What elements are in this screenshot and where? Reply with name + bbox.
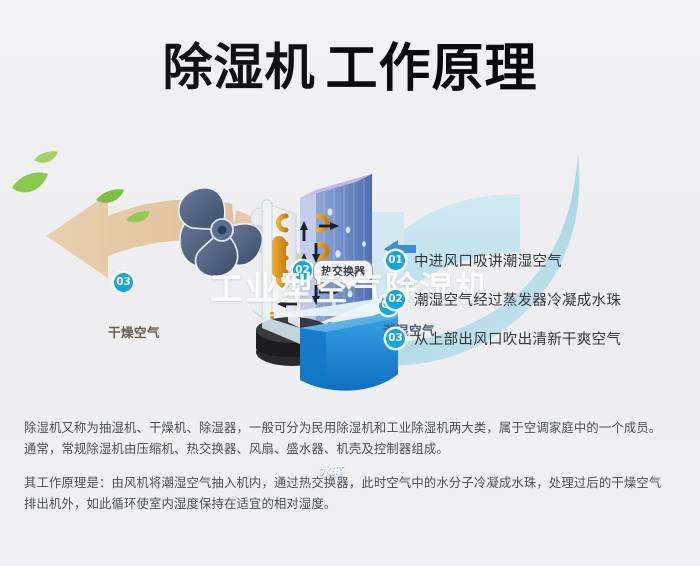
list-item: 02 潮湿空气经过蒸发器冷凝成水珠: [386, 289, 686, 310]
list-item: 01 中进风口吸讲潮湿空气: [386, 250, 686, 271]
title-part-1: 除湿机: [162, 39, 315, 97]
diagram-badge-03: 03: [114, 273, 133, 292]
infographic-page: 除湿机工作原理: [0, 0, 700, 566]
list-item: 03 从上部出风口吹出清新干爽空气: [386, 328, 686, 349]
compressor: [272, 236, 286, 278]
paragraph-2-line-2: 排出机外，如此循环使室内湿度保持在适宜的相对湿度。: [24, 494, 684, 515]
fan-blades: [179, 188, 263, 277]
step-text-01: 中进风口吸讲潮湿空气: [414, 250, 562, 271]
paragraph-1-line-2: 通常，常规除湿机由压缩机、热交换器、风扇、盛水器、机壳及控制器组成。: [24, 439, 684, 460]
step-text-03: 从上部出风口吹出清新干爽空气: [414, 328, 621, 349]
dry-air-label: 干燥空气: [108, 322, 160, 341]
step-badge-02: 02: [386, 290, 405, 309]
step-badge-03: 03: [386, 329, 405, 348]
steps-list: 01 中进风口吸讲潮湿空气 02 潮湿空气经过蒸发器冷凝成水珠 03 从上部出风…: [386, 250, 686, 367]
step-badge-01: 01: [386, 251, 405, 270]
paragraph-2-line-1: 其工作原理是：由风机将潮湿空气抽入机内，通过热交换器，此时空气中的水分子冷凝成水…: [24, 473, 684, 494]
paragraph-1-line-1: 除湿机又称为抽湿机、干燥机、除湿器，一般可分为民用除湿机和工业除湿机两大类，属于…: [24, 418, 684, 439]
step-text-02: 潮湿空气经过蒸发器冷凝成水珠: [414, 289, 621, 310]
heat-exchanger-callout: 热交换器: [313, 260, 373, 283]
body-copy: 除湿机又称为抽湿机、干燥机、除湿器，一般可分为民用除湿机和工业除湿机两大类，属于…: [24, 418, 684, 515]
title-part-2: 工作原理: [325, 39, 537, 99]
paragraph-spacer: [24, 460, 684, 473]
diagram-badge-02: 02: [293, 261, 312, 280]
page-title: 除湿机工作原理: [0, 26, 700, 101]
